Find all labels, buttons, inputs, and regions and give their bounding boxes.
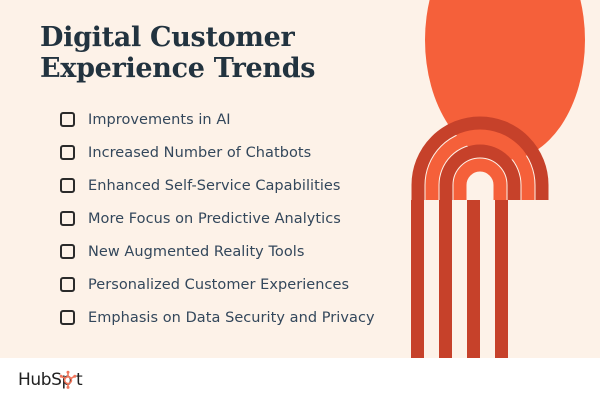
screenshot-canvas: Digital Customer Experience Trends Impro… — [0, 0, 600, 400]
list-item[interactable]: More Focus on Predictive Analytics — [60, 202, 375, 235]
list-item[interactable]: Emphasis on Data Security and Privacy — [60, 301, 375, 334]
list-item[interactable]: New Augmented Reality Tools — [60, 235, 375, 268]
checkbox-icon[interactable] — [60, 211, 75, 226]
list-item[interactable]: Increased Number of Chatbots — [60, 136, 375, 169]
checkbox-icon[interactable] — [60, 178, 75, 193]
list-item-label: Increased Number of Chatbots — [88, 145, 311, 161]
checkbox-icon[interactable] — [60, 112, 75, 127]
list-item-label: Enhanced Self-Service Capabilities — [88, 178, 341, 194]
list-item-label: More Focus on Predictive Analytics — [88, 211, 341, 227]
page-title: Digital Customer Experience Trends — [40, 22, 370, 85]
list-item[interactable]: Personalized Customer Experiences — [60, 268, 375, 301]
list-item[interactable]: Improvements in AI — [60, 103, 375, 136]
page-title-line-1: Digital Customer — [40, 22, 370, 53]
hubspot-logo[interactable]: HubSp t — [18, 368, 96, 390]
checkbox-icon[interactable] — [60, 145, 75, 160]
trends-checklist: Improvements in AI Increased Number of C… — [60, 103, 375, 334]
checkbox-icon[interactable] — [60, 277, 75, 292]
list-item-label: New Augmented Reality Tools — [88, 244, 304, 260]
footer: HubSp t — [0, 358, 600, 400]
orange-circle-and-arcs-graphic — [400, 0, 600, 358]
list-item-label: Improvements in AI — [88, 112, 231, 128]
list-item[interactable]: Enhanced Self-Service Capabilities — [60, 169, 375, 202]
content-card: Digital Customer Experience Trends Impro… — [0, 0, 600, 358]
svg-text:t: t — [76, 370, 83, 390]
checkbox-icon[interactable] — [60, 310, 75, 325]
list-item-label: Personalized Customer Experiences — [88, 277, 349, 293]
list-item-label: Emphasis on Data Security and Privacy — [88, 310, 375, 326]
checkbox-icon[interactable] — [60, 244, 75, 259]
page-title-line-2: Experience Trends — [40, 53, 370, 84]
